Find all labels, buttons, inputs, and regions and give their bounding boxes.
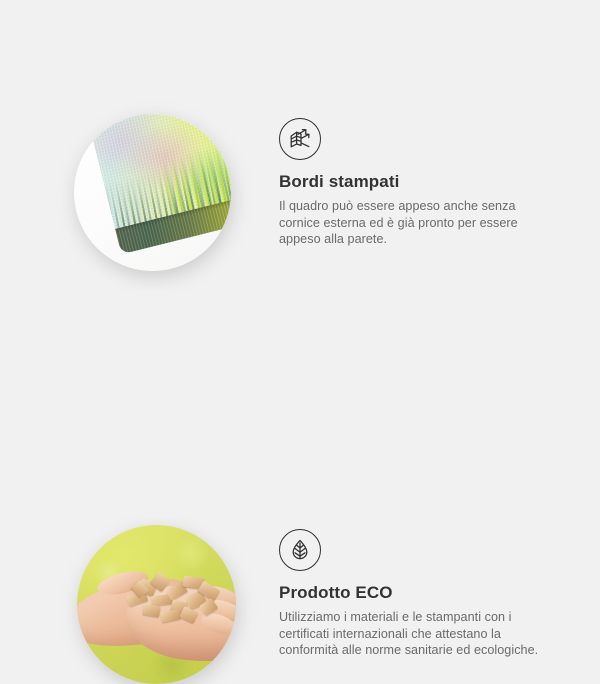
feature-title: Prodotto ECO [279, 583, 569, 603]
wood-chips-hands-photo [77, 525, 236, 684]
promo-feature-page: Bordi stampati Il quadro può essere appe… [0, 0, 600, 600]
wood-chips [123, 567, 223, 629]
feature-block-prodotto-eco: Prodotto ECO Utilizziamo i materiali e l… [0, 205, 600, 505]
feature-title: Bordi stampati [279, 172, 569, 192]
feature-text-prodotto-eco: Prodotto ECO Utilizziamo i materiali e l… [279, 529, 569, 659]
feature-description: Utilizziamo i materiali e le stampanti c… [279, 609, 551, 658]
leaf-icon [279, 529, 321, 571]
printed-edges-icon [279, 118, 321, 160]
